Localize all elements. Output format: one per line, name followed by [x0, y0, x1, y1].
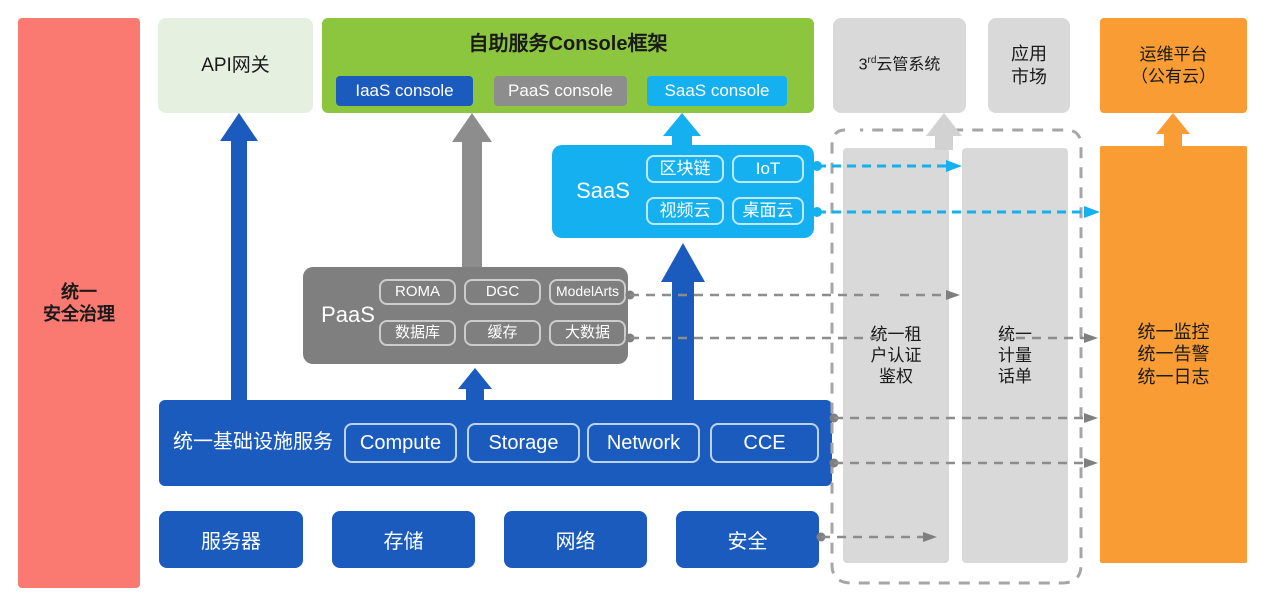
hardware-box-server: 服务器 [159, 511, 303, 568]
hardware-box-network: 网络 [504, 511, 647, 568]
paas-label: PaaS [313, 301, 383, 329]
infra-chip-compute[interactable]: Compute [344, 423, 457, 463]
architecture-diagram: 统一安全治理 API网关 自助服务Console框架 IaaS console … [0, 0, 1265, 605]
infra-chip-storage[interactable]: Storage [467, 423, 580, 463]
ops-detail-box: 统一监控统一告警统一日志 [1100, 146, 1247, 563]
paas-block: PaaS ROMA DGC ModelArts 数据库 缓存 大数据 [303, 267, 628, 364]
unified-billing-column: 统一计量话单 [962, 148, 1068, 563]
console-chip-iaas[interactable]: IaaS console [336, 76, 473, 106]
paas-chip-roma[interactable]: ROMA [379, 279, 456, 305]
arrow-ops-detail-to-platform [1156, 113, 1190, 146]
infrastructure-services-label: 统一基础设施服务 [173, 430, 333, 455]
saas-chip-desktop-cloud[interactable]: 桌面云 [732, 197, 804, 225]
arrow-infra-to-paas [458, 368, 492, 400]
gray-link-paas-to-auth [626, 291, 881, 300]
app-market-box: 应用市场 [988, 18, 1070, 113]
ops-platform-label: 运维平台（公有云） [1131, 44, 1216, 87]
hardware-box-security: 安全 [676, 511, 819, 568]
infrastructure-services-bar: 统一基础设施服务 Compute Storage Network CCE [159, 400, 832, 486]
api-gateway-label: API网关 [201, 54, 270, 78]
infra-chip-cce[interactable]: CCE [710, 423, 819, 463]
paas-chip-cache[interactable]: 缓存 [464, 320, 541, 346]
app-market-label: 应用市场 [1011, 43, 1047, 88]
third-party-cloud-box: 3rd云管系统 [833, 18, 966, 113]
gray-link-paas-to-auth-lower [626, 334, 881, 343]
api-gateway-box: API网关 [158, 18, 313, 113]
ops-platform-box: 运维平台（公有云） [1100, 18, 1247, 113]
saas-chip-iot[interactable]: IoT [732, 155, 804, 183]
security-governance-panel: 统一安全治理 [18, 18, 140, 588]
arrow-middle-to-third-party-cloud [926, 113, 962, 150]
arrow-paas-to-console [452, 113, 492, 267]
paas-chip-modelarts[interactable]: ModelArts [549, 279, 626, 305]
third-party-cloud-suffix: 云管系统 [876, 57, 940, 74]
console-framework-box: 自助服务Console框架 IaaS console PaaS console … [322, 18, 814, 113]
saas-label: SaaS [564, 177, 642, 205]
unified-tenant-auth-label: 统一租户认证鉴权 [871, 324, 922, 388]
console-chip-saas[interactable]: SaaS console [647, 76, 787, 106]
saas-chip-video-cloud[interactable]: 视频云 [646, 197, 724, 225]
saas-chip-blockchain[interactable]: 区块链 [646, 155, 724, 183]
arrow-saas-to-console [663, 113, 701, 146]
security-governance-label: 统一安全治理 [43, 281, 115, 326]
console-chip-paas[interactable]: PaaS console [494, 76, 627, 106]
paas-chip-dgc[interactable]: DGC [464, 279, 541, 305]
unified-billing-label: 统一计量话单 [998, 324, 1032, 388]
hardware-box-storage: 存储 [332, 511, 475, 568]
unified-tenant-auth-column: 统一租户认证鉴权 [843, 148, 949, 563]
console-framework-title: 自助服务Console框架 [322, 32, 814, 57]
ops-detail-label: 统一监控统一告警统一日志 [1138, 321, 1210, 389]
infra-chip-network[interactable]: Network [587, 423, 700, 463]
third-party-cloud-label: 3rd云管系统 [859, 55, 941, 75]
arrow-infra-to-api-gateway [220, 113, 258, 400]
arrow-infra-to-saas [661, 243, 705, 400]
paas-chip-bigdata[interactable]: 大数据 [549, 320, 626, 346]
saas-block: SaaS 区块链 IoT 视频云 桌面云 [552, 145, 814, 238]
paas-chip-database[interactable]: 数据库 [379, 320, 456, 346]
